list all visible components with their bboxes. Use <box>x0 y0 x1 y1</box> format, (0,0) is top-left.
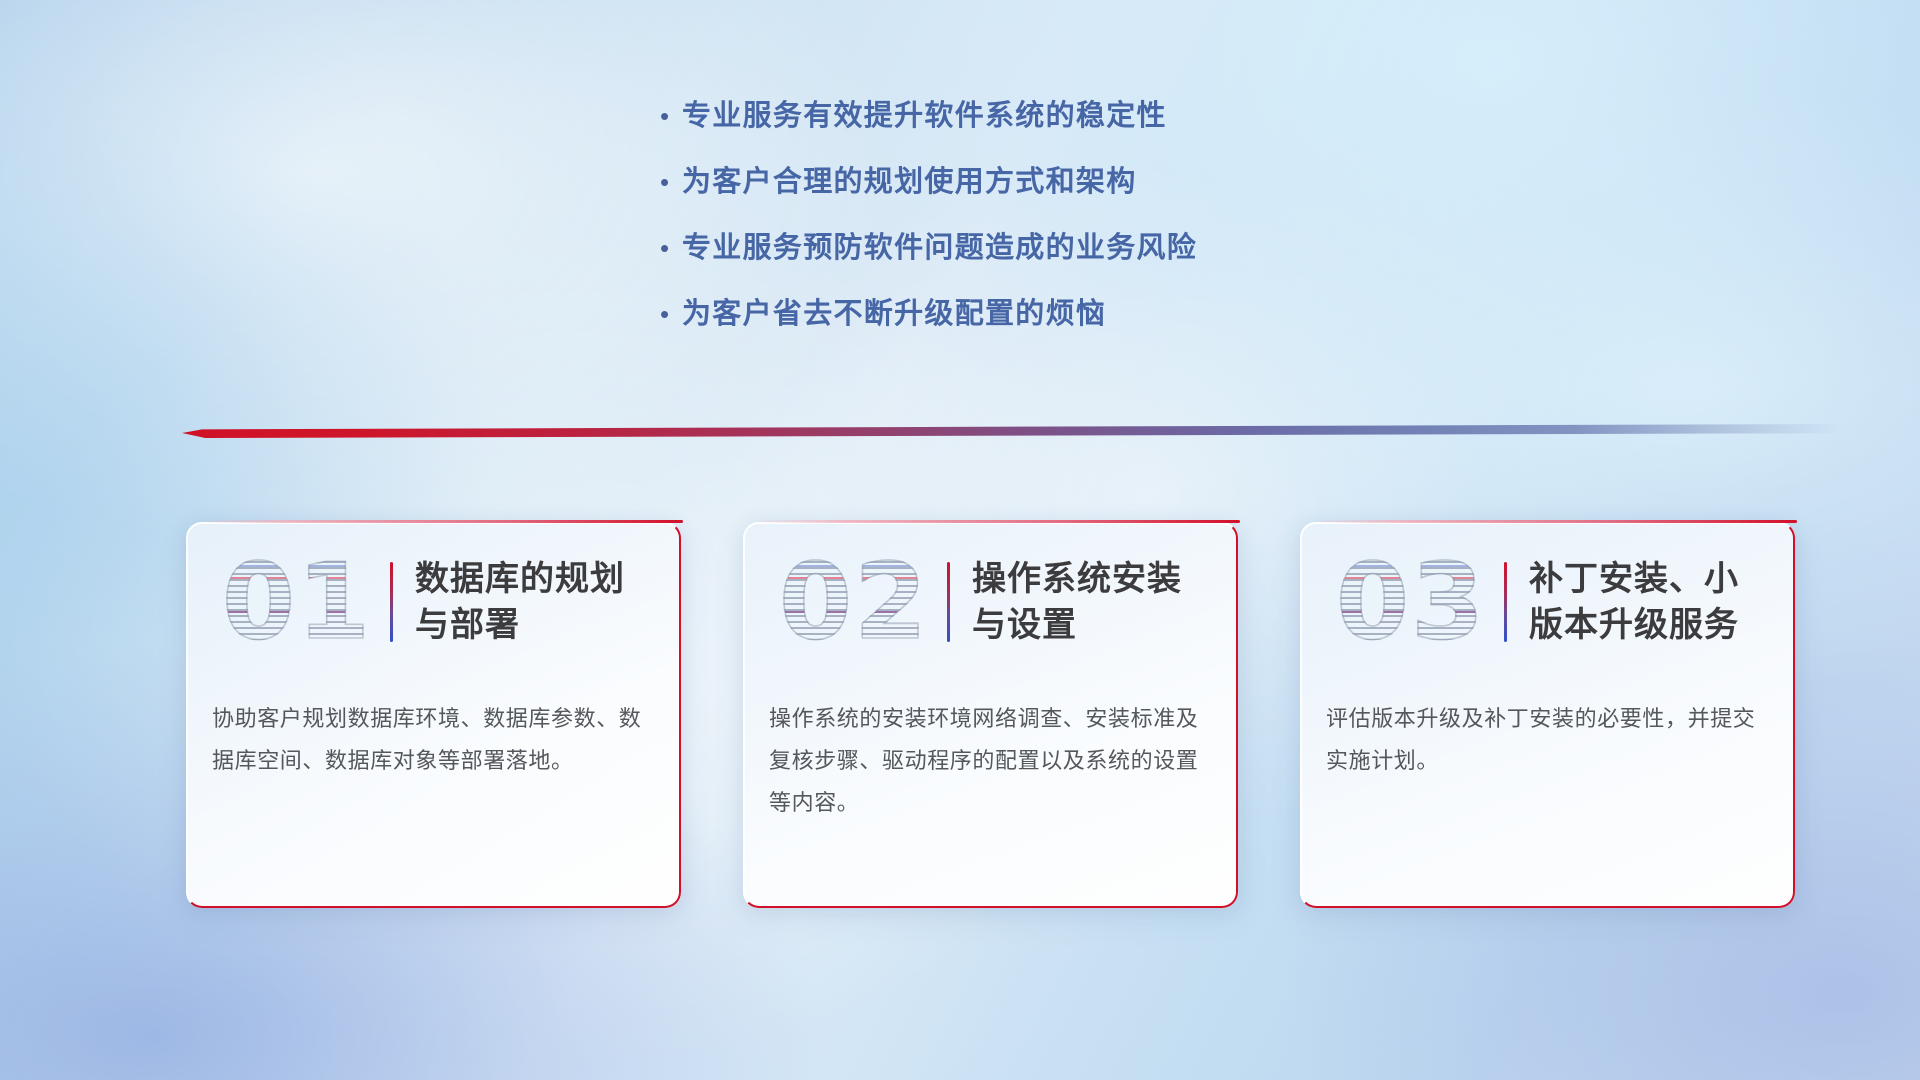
card-header: 02 02 02 操作系统安装与设置 <box>743 542 1238 662</box>
card-body-text: 协助客户规划数据库环境、数据库参数、数据库空间、数据库对象等部署落地。 <box>212 698 655 782</box>
bullet-item: • 为客户省去不断升级配置的烦恼 <box>660 294 1197 334</box>
divider-gradient-bar <box>182 424 1842 438</box>
card-top-accent-line <box>200 520 683 523</box>
card-top-accent-line <box>1314 520 1797 523</box>
bullet-marker-icon: • <box>660 228 682 268</box>
service-card[interactable]: 02 02 02 操作系统安装与设置 操作系统的安装环境网络调查、安装标准及复核… <box>743 522 1238 908</box>
card-number: 02 <box>765 543 943 661</box>
card-top-accent-line <box>757 520 1240 523</box>
card-title: 补丁安装、小版本升级服务 <box>1529 556 1769 648</box>
benefit-bullet-list: • 专业服务有效提升软件系统的稳定性 • 为客户合理的规划使用方式和架构 • 专… <box>660 96 1197 334</box>
bullet-item: • 专业服务预防软件问题造成的业务风险 <box>660 228 1197 268</box>
card-title: 操作系统安装与设置 <box>972 556 1212 648</box>
card-title: 数据库的规划与部署 <box>415 556 655 648</box>
card-body-text: 操作系统的安装环境网络调查、安装标准及复核步骤、驱动程序的配置以及系统的设置等内… <box>769 698 1212 824</box>
bullet-marker-icon: • <box>660 96 682 136</box>
card-number-badge: 01 01 01 <box>208 543 386 661</box>
bullet-marker-icon: • <box>660 294 682 334</box>
section-divider <box>182 424 1842 438</box>
bullet-text: 专业服务有效提升软件系统的稳定性 <box>682 96 1167 136</box>
card-number: 03 <box>1322 543 1500 661</box>
service-card[interactable]: 03 03 03 补丁安装、小版本升级服务 评估版本升级及补丁安装的必要性，并提… <box>1300 522 1795 908</box>
card-header: 03 03 03 补丁安装、小版本升级服务 <box>1300 542 1795 662</box>
bullet-marker-icon: • <box>660 162 682 202</box>
bullet-item: • 专业服务有效提升软件系统的稳定性 <box>660 96 1197 136</box>
card-number: 01 <box>208 543 386 661</box>
card-divider-bar <box>1504 562 1507 642</box>
bullet-text: 为客户省去不断升级配置的烦恼 <box>682 294 1106 334</box>
card-divider-bar <box>390 562 393 642</box>
service-card[interactable]: 01 01 01 数据库的规划与部署 协助客户规划数据库环境、数据库参数、数据库… <box>186 522 681 908</box>
card-number-badge: 02 02 02 <box>765 543 943 661</box>
card-header: 01 01 01 数据库的规划与部署 <box>186 542 681 662</box>
bullet-item: • 为客户合理的规划使用方式和架构 <box>660 162 1197 202</box>
card-divider-bar <box>947 562 950 642</box>
card-body-text: 评估版本升级及补丁安装的必要性，并提交实施计划。 <box>1326 698 1769 782</box>
bullet-text: 为客户合理的规划使用方式和架构 <box>682 162 1137 202</box>
bullet-text: 专业服务预防软件问题造成的业务风险 <box>682 228 1197 268</box>
card-number-badge: 03 03 03 <box>1322 543 1500 661</box>
service-card-row: 01 01 01 数据库的规划与部署 协助客户规划数据库环境、数据库参数、数据库… <box>186 522 1795 908</box>
